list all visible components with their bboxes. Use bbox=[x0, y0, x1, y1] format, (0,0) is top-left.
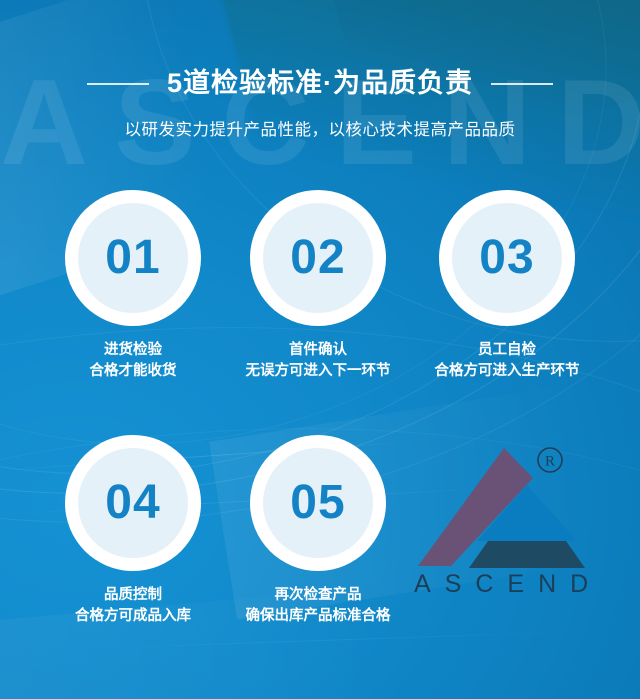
step-label-line1: 进货检验 bbox=[48, 340, 218, 361]
step-circle-inner-04: 04 bbox=[78, 448, 188, 558]
title-rule-left bbox=[87, 83, 149, 85]
step-label-04: 品质控制 合格方可成品入库 bbox=[48, 585, 218, 627]
step-circle-inner-03: 03 bbox=[452, 203, 562, 313]
promo-poster: ASCEND 5道检验标准·为品质负责 以研发实力提升产品性能，以核心技术提高产… bbox=[0, 0, 640, 699]
ascend-logo-mark: R ASCEND bbox=[410, 440, 625, 600]
page-subtitle: 以研发实力提升产品性能，以核心技术提高产品品质 bbox=[0, 116, 640, 140]
step-label-05: 再次检查产品 确保出库产品标准合格 bbox=[233, 585, 403, 627]
logo-base-shape bbox=[469, 541, 585, 568]
step-label-line1: 再次检查产品 bbox=[233, 585, 403, 606]
step-circle-01: 01 bbox=[65, 190, 201, 326]
step-circle-inner-05: 05 bbox=[263, 448, 373, 558]
step-item-01: 01 进货检验 合格才能收货 bbox=[48, 190, 218, 382]
step-label-line1: 品质控制 bbox=[48, 585, 218, 606]
step-circle-03: 03 bbox=[439, 190, 575, 326]
step-label-line1: 员工自检 bbox=[422, 340, 592, 361]
step-number-02: 02 bbox=[290, 234, 345, 282]
step-label-line2: 确保出库产品标准合格 bbox=[233, 606, 403, 627]
step-circle-05: 05 bbox=[250, 435, 386, 571]
step-number-05: 05 bbox=[290, 479, 345, 527]
step-circle-inner-01: 01 bbox=[78, 203, 188, 313]
step-circle-inner-02: 02 bbox=[263, 203, 373, 313]
step-number-01: 01 bbox=[105, 234, 160, 282]
step-label-01: 进货检验 合格才能收货 bbox=[48, 340, 218, 382]
title-row: 5道检验标准·为品质负责 bbox=[0, 70, 640, 97]
page-title: 5道检验标准·为品质负责 bbox=[167, 70, 473, 97]
step-item-03: 03 员工自检 合格方可进入生产环节 bbox=[422, 190, 592, 382]
step-label-line1: 首件确认 bbox=[233, 340, 403, 361]
step-label-line2: 合格方可成品入库 bbox=[48, 606, 218, 627]
svg-text:R: R bbox=[545, 454, 555, 470]
step-label-line2: 无误方可进入下一环节 bbox=[233, 361, 403, 382]
steps-row-top: 01 进货检验 合格才能收货 02 首件确认 无误方可进入下一环节 bbox=[0, 190, 640, 435]
step-item-02: 02 首件确认 无误方可进入下一环节 bbox=[233, 190, 403, 382]
steps-container: 01 进货检验 合格才能收货 02 首件确认 无误方可进入下一环节 bbox=[0, 190, 640, 680]
logo-wordmark: ASCEND bbox=[414, 570, 602, 598]
ascend-logo: R ASCEND bbox=[410, 440, 625, 600]
step-circle-04: 04 bbox=[65, 435, 201, 571]
step-label-02: 首件确认 无误方可进入下一环节 bbox=[233, 340, 403, 382]
step-item-04: 04 品质控制 合格方可成品入库 bbox=[48, 435, 218, 627]
step-number-03: 03 bbox=[479, 234, 534, 282]
header: 5道检验标准·为品质负责 以研发实力提升产品性能，以核心技术提高产品品质 bbox=[0, 70, 640, 140]
step-label-line2: 合格才能收货 bbox=[48, 361, 218, 382]
title-rule-right bbox=[491, 83, 553, 85]
step-label-line2: 合格方可进入生产环节 bbox=[422, 361, 592, 382]
step-label-03: 员工自检 合格方可进入生产环节 bbox=[422, 340, 592, 382]
step-item-05: 05 再次检查产品 确保出库产品标准合格 bbox=[233, 435, 403, 627]
step-circle-02: 02 bbox=[250, 190, 386, 326]
step-number-04: 04 bbox=[105, 479, 160, 527]
registered-trademark-icon: R bbox=[538, 448, 562, 472]
